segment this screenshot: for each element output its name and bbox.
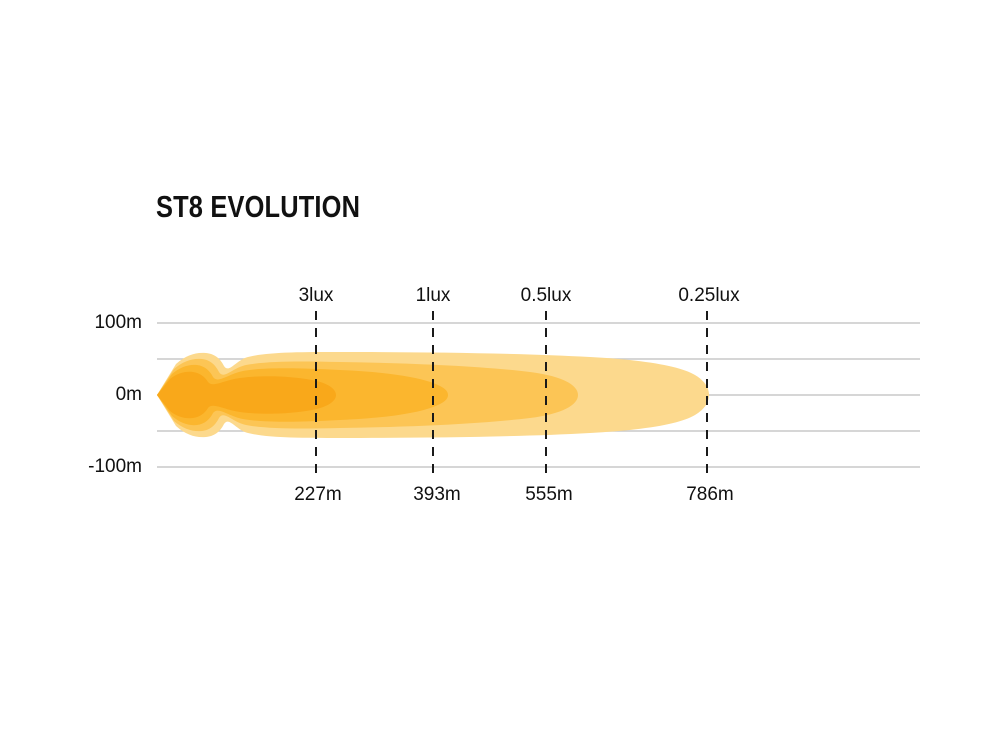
y-axis-tick-minus-100m: -100m bbox=[30, 456, 142, 478]
lux-label-1lux: 1lux bbox=[416, 285, 451, 307]
beam-pattern-diagram: ST8 EVOLUTION 100m 0m -100m bbox=[0, 0, 1000, 750]
lux-label-05lux: 0.5lux bbox=[521, 285, 572, 307]
lux-label-025lux: 0.25lux bbox=[678, 285, 739, 307]
beam-plot-svg bbox=[0, 0, 1000, 750]
distance-label-555m: 555m bbox=[525, 484, 573, 506]
y-axis-tick-100m: 100m bbox=[30, 312, 142, 334]
distance-label-393m: 393m bbox=[413, 484, 461, 506]
distance-label-227m: 227m bbox=[294, 484, 342, 506]
distance-label-786m: 786m bbox=[686, 484, 734, 506]
lux-label-3lux: 3lux bbox=[299, 285, 334, 307]
y-axis-tick-0m: 0m bbox=[30, 384, 142, 406]
